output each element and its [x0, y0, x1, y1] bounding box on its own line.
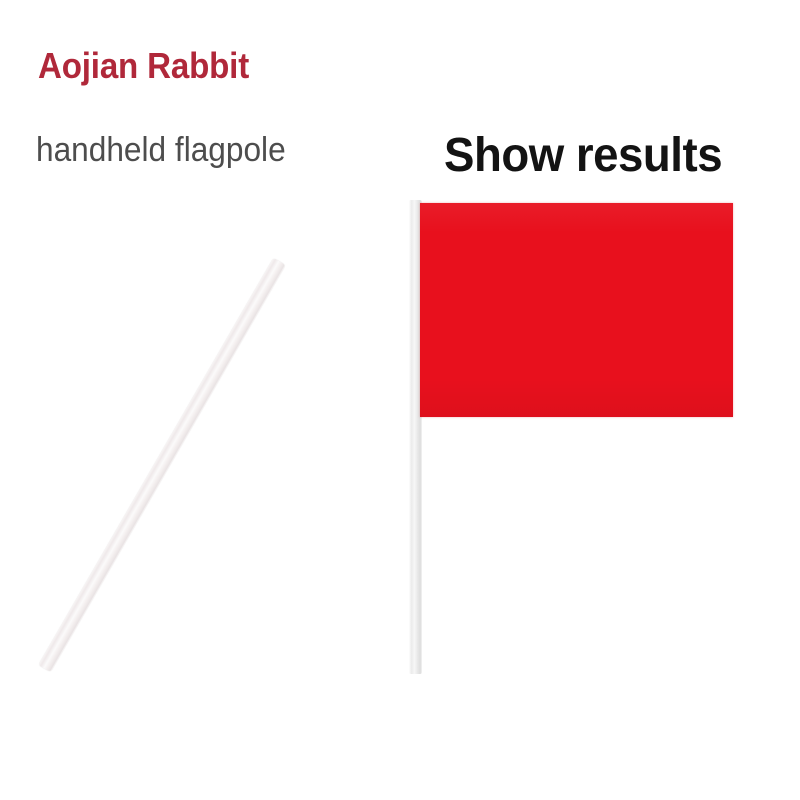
red-flag-banner-shape	[420, 203, 733, 417]
brand-title: Aojian Rabbit	[38, 48, 249, 84]
product-image-canvas: Aojian Rabbit handheld flagpole Show res…	[0, 0, 800, 800]
product-name-label: handheld flagpole	[36, 133, 286, 167]
diagonal-flagpole-shape	[38, 258, 285, 672]
show-results-caption: Show results	[444, 132, 722, 180]
